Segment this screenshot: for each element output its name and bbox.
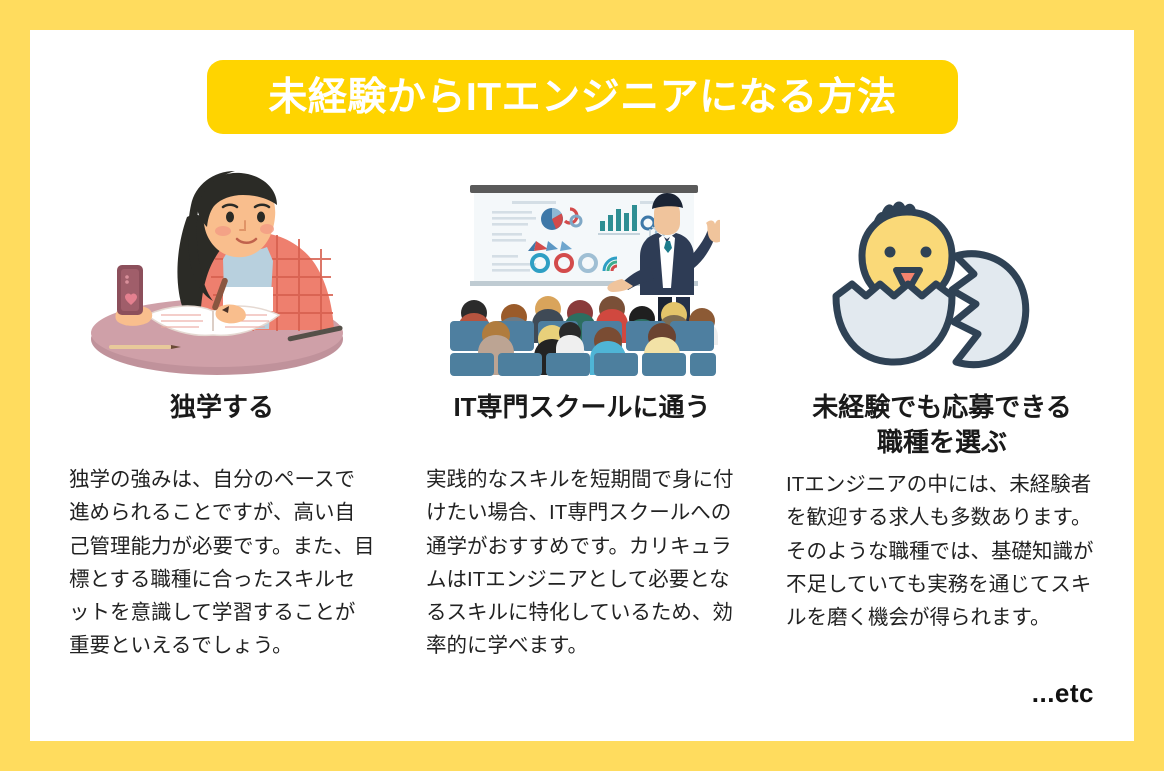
column-heading-open-positions: 未経験でも応募できる 職種を選ぶ [812, 390, 1071, 460]
illustration-woman-studying-at-desk [48, 158, 396, 376]
column-body-self-study: 独学の強みは、自分のペースで進められることですが、高い自己管理能力が必要です。ま… [69, 463, 375, 662]
poster-page: 未経験からITエンジニアになる方法 [0, 0, 1164, 771]
page-title: 未経験からITエンジニアになる方法 [268, 78, 896, 117]
column-body-it-school: 実践的なスキルを短期間で身に付けたい場合、IT専門スクールへの通学がおすすめです… [426, 463, 738, 662]
illustration-hatching-chick-egg [768, 158, 1116, 376]
woman-studying-icon [91, 169, 353, 376]
column-self-study: 独学する 独学の強みは、自分のペースで進められることですが、高い自己管理能力が必… [48, 158, 396, 662]
column-heading-self-study: 独学する [170, 390, 274, 425]
column-heading-it-school: IT専門スクールに通う [453, 390, 710, 425]
column-open-positions: 未経験でも応募できる 職種を選ぶ ITエンジニアの中には、未経験者を歓迎する求人… [768, 158, 1116, 662]
hatching-chick-icon [832, 176, 1052, 376]
columns-container: 独学する 独学の強みは、自分のペースで進められることですが、高い自己管理能力が必… [30, 158, 1134, 662]
white-card: 未経験からITエンジニアになる方法 [30, 30, 1134, 741]
column-it-school: IT専門スクールに通う 実践的なスキルを短期間で身に付けたい場合、IT専門スクー… [408, 158, 756, 662]
etc-label: ...etc [1032, 678, 1094, 709]
seminar-presentation-icon [444, 171, 720, 376]
illustration-seminar-presentation-audience [408, 158, 756, 376]
title-banner: 未経験からITエンジニアになる方法 [207, 60, 958, 134]
column-body-open-positions: ITエンジニアの中には、未経験者を歓迎する求人も多数あります。そのような職種では… [786, 468, 1098, 634]
